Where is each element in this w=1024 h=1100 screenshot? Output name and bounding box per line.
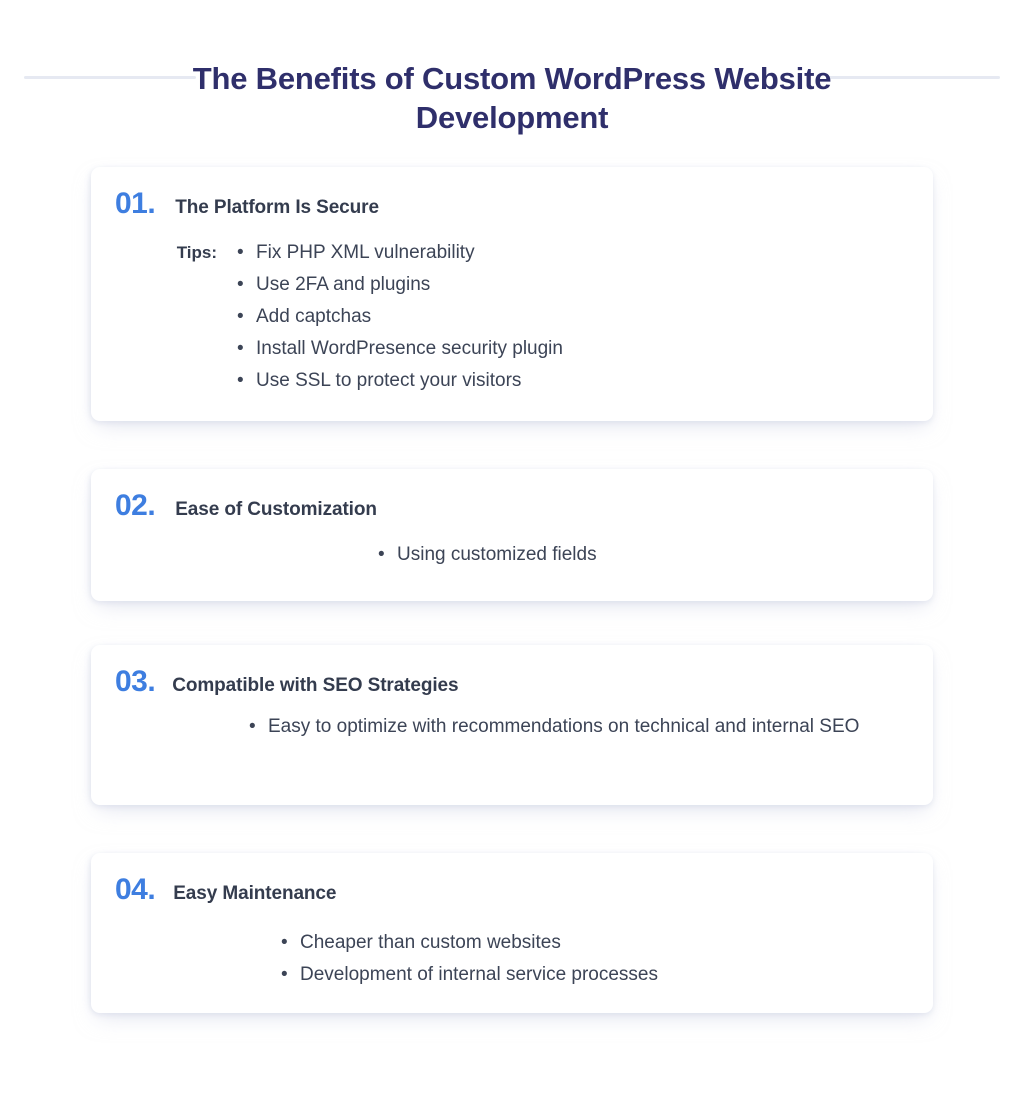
list-item: Cheaper than custom websites: [281, 927, 658, 959]
list-item: Add captchas: [237, 301, 563, 333]
list-item: Use 2FA and plugins: [237, 269, 563, 301]
benefit-card-03: 03. Compatible with SEO Strategies Easy …: [91, 645, 933, 805]
infographic-page: The Benefits of Custom WordPress Website…: [0, 0, 1024, 1100]
card-number-02: 02.: [115, 491, 155, 521]
tips-list-04: Cheaper than custom websites Development…: [281, 927, 658, 991]
page-title: The Benefits of Custom WordPress Website…: [182, 59, 842, 137]
list-item: Fix PHP XML vulnerability: [237, 237, 563, 269]
tips-row-01: Tips: Fix PHP XML vulnerability Use 2FA …: [115, 237, 563, 397]
list-item: Install WordPresence security plugin: [237, 333, 563, 365]
benefit-card-02: 02. Ease of Customization Using customiz…: [91, 469, 933, 601]
card-number-01: 01.: [115, 189, 155, 219]
card-header-04: 04. Easy Maintenance: [115, 875, 336, 905]
benefit-card-04: 04. Easy Maintenance Cheaper than custom…: [91, 853, 933, 1013]
list-item: Easy to optimize with recommendations on…: [268, 711, 918, 743]
card-header-02: 02. Ease of Customization: [115, 491, 377, 521]
page-header: The Benefits of Custom WordPress Website…: [0, 0, 1024, 150]
tips-label-01: Tips:: [115, 237, 237, 269]
title-rule-left-icon: [24, 76, 196, 79]
card-heading-03: Compatible with SEO Strategies: [172, 676, 458, 695]
card-header-03: 03. Compatible with SEO Strategies: [115, 667, 459, 697]
tips-list-01: Fix PHP XML vulnerability Use 2FA and pl…: [237, 237, 563, 397]
benefit-card-01: 01. The Platform Is Secure Tips: Fix PHP…: [91, 167, 933, 421]
card-heading-02: Ease of Customization: [175, 500, 377, 519]
title-rule-right-icon: [828, 76, 1000, 79]
card-number-04: 04.: [115, 875, 155, 905]
card-heading-04: Easy Maintenance: [173, 884, 336, 903]
list-item: Use SSL to protect your visitors: [237, 365, 563, 397]
tips-list-03: Easy to optimize with recommendations on…: [268, 711, 918, 743]
card-header-01: 01. The Platform Is Secure: [115, 189, 379, 219]
card-heading-01: The Platform Is Secure: [175, 198, 379, 217]
card-number-03: 03.: [115, 667, 155, 697]
tips-list-02: Using customized fields: [378, 539, 597, 571]
list-item: Using customized fields: [378, 539, 597, 571]
list-item: Development of internal service processe…: [281, 959, 658, 991]
